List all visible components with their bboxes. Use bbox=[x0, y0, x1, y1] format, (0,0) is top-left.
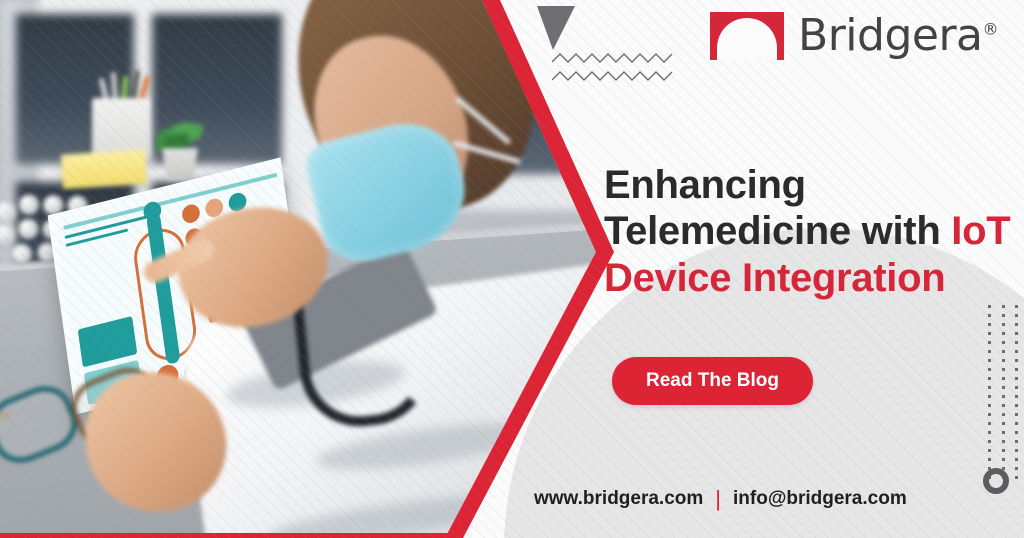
website-link[interactable]: www.bridgera.com bbox=[534, 488, 703, 510]
read-the-blog-button[interactable]: Read The Blog bbox=[612, 357, 813, 405]
footer-separator: | bbox=[715, 486, 721, 512]
grid-dot bbox=[1015, 314, 1018, 317]
grid-dot bbox=[988, 377, 991, 380]
grid-dot bbox=[988, 458, 991, 461]
grid-dot bbox=[988, 341, 991, 344]
grid-dot bbox=[988, 368, 991, 371]
grid-dot bbox=[988, 395, 991, 398]
hero-photo bbox=[0, 0, 600, 538]
grid-dot bbox=[988, 350, 991, 353]
grid-dot bbox=[1002, 323, 1005, 326]
grid-dot bbox=[1002, 341, 1005, 344]
brand-name: Bridgera® bbox=[798, 14, 998, 58]
grid-dot bbox=[1015, 368, 1018, 371]
grid-dot bbox=[988, 404, 991, 407]
bridge-arch-logo-icon bbox=[710, 12, 784, 60]
grid-dot bbox=[1015, 440, 1018, 443]
grid-dot bbox=[1002, 404, 1005, 407]
grid-dot bbox=[1002, 386, 1005, 389]
red-bottom-rule bbox=[0, 533, 452, 538]
grid-dot bbox=[1015, 386, 1018, 389]
grid-dot bbox=[1015, 467, 1018, 470]
grid-dot bbox=[1002, 431, 1005, 434]
grid-dot bbox=[988, 332, 991, 335]
grid-dot bbox=[1002, 305, 1005, 308]
grid-dot bbox=[1015, 377, 1018, 380]
grid-dot bbox=[1015, 323, 1018, 326]
grid-dot bbox=[1002, 359, 1005, 362]
grid-dot bbox=[1002, 314, 1005, 317]
email-link[interactable]: info@bridgera.com bbox=[733, 488, 907, 510]
grid-dot bbox=[1015, 332, 1018, 335]
grid-dot bbox=[1015, 395, 1018, 398]
headline-line-2: Telemedicine with IoT bbox=[604, 208, 1004, 254]
grid-dot bbox=[1015, 341, 1018, 344]
grid-dot bbox=[988, 305, 991, 308]
grid-dot bbox=[1002, 332, 1005, 335]
grid-dot bbox=[1015, 413, 1018, 416]
grid-dot bbox=[1002, 395, 1005, 398]
grid-dot bbox=[988, 386, 991, 389]
grid-dot bbox=[988, 431, 991, 434]
dot-grid-icon bbox=[982, 305, 1018, 485]
headline-line-2-accent: IoT bbox=[951, 209, 1010, 253]
marketing-banner: Bridgera® Enhancing Telemedicine with Io… bbox=[0, 0, 1024, 538]
grid-dot bbox=[1015, 359, 1018, 362]
grid-dot bbox=[1015, 476, 1018, 479]
grid-dot bbox=[988, 413, 991, 416]
grid-dot bbox=[1002, 368, 1005, 371]
headline-line-1: Enhancing bbox=[604, 162, 1004, 208]
zigzag-lines-icon bbox=[552, 52, 676, 89]
grid-dot bbox=[1015, 404, 1018, 407]
registered-trademark-icon: ® bbox=[983, 19, 999, 38]
grid-dot bbox=[1002, 377, 1005, 380]
ring-outline-icon bbox=[983, 468, 1009, 494]
grid-dot bbox=[1015, 350, 1018, 353]
grid-dot bbox=[988, 323, 991, 326]
plant-pot bbox=[162, 148, 198, 180]
page-title: Enhancing Telemedicine with IoT Device I… bbox=[604, 162, 1004, 301]
sticky-notes bbox=[61, 149, 147, 189]
bridgera-logo[interactable]: Bridgera® bbox=[710, 12, 998, 60]
grid-dot bbox=[1015, 422, 1018, 425]
grid-dot bbox=[1002, 422, 1005, 425]
contact-footer: www.bridgera.com | info@bridgera.com bbox=[534, 486, 907, 512]
grid-dot bbox=[1015, 458, 1018, 461]
grid-dot bbox=[988, 422, 991, 425]
brand-name-text: Bridgera bbox=[798, 10, 982, 61]
grid-dot bbox=[1002, 350, 1005, 353]
grid-dot bbox=[988, 314, 991, 317]
grid-dot bbox=[1002, 449, 1005, 452]
grid-dot bbox=[1002, 458, 1005, 461]
grid-dot bbox=[1002, 440, 1005, 443]
grid-dot bbox=[1015, 431, 1018, 434]
grid-dot bbox=[988, 449, 991, 452]
headline-line-2-plain: Telemedicine with bbox=[604, 209, 951, 253]
grid-dot bbox=[988, 440, 991, 443]
grid-dot bbox=[1002, 413, 1005, 416]
grid-dot bbox=[1015, 449, 1018, 452]
grid-dot bbox=[988, 359, 991, 362]
headline-line-3: Device Integration bbox=[604, 255, 1004, 301]
grid-dot bbox=[1015, 305, 1018, 308]
